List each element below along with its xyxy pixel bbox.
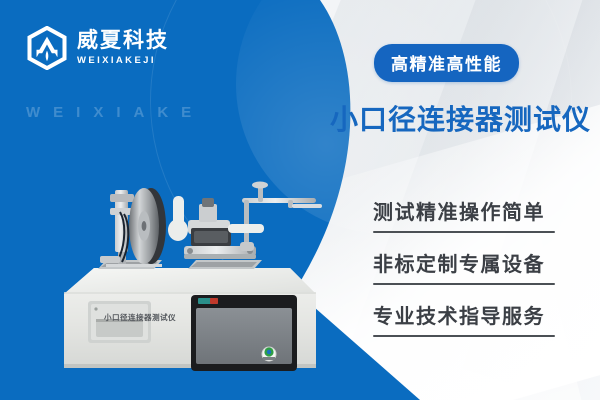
page-title: 小口径连接器测试仪 [330, 98, 591, 138]
feature-list: 测试精准操作简单 非标定制专属设备 专业技术指导服务 [373, 196, 573, 352]
hex-shield-arrow-logo-icon [26, 26, 68, 70]
brand-name-en: WEIXIAKEJI [77, 56, 169, 66]
feature-label: 测试精准操作简单 [373, 196, 573, 231]
feature-label: 非标定制专属设备 [373, 248, 573, 283]
banner-canvas: 威夏科技 WEIXIAKEJI WEIXIAKE 高精准高性能 小口径连接器测试… [0, 0, 600, 400]
brand-name-cn: 威夏科技 [77, 30, 169, 51]
list-item: 专业技术指导服务 [373, 300, 573, 337]
product-image: 小口径连接器测试仪 [58, 168, 324, 374]
hero-badge: 高精准高性能 [374, 44, 519, 82]
divider [373, 231, 555, 233]
divider [373, 283, 555, 285]
list-item: 非标定制专属设备 [373, 248, 573, 285]
product-panel-label: 小口径连接器测试仪 [82, 312, 198, 323]
watermark-text: WEIXIAKE [26, 104, 326, 121]
list-item: 测试精准操作简单 [373, 196, 573, 233]
feature-label: 专业技术指导服务 [373, 300, 573, 335]
divider [373, 335, 555, 337]
brand-logo[interactable]: 威夏科技 WEIXIAKEJI [26, 26, 169, 70]
